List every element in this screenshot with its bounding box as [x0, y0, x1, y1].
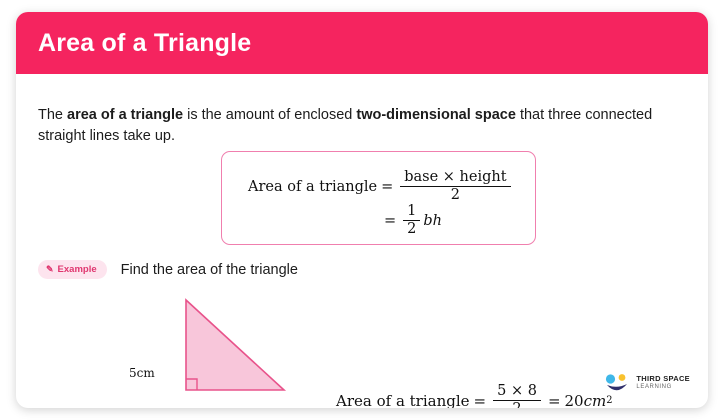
formula-half-fraction: 1 2 — [403, 204, 420, 237]
example-badge: ✎ Example — [38, 260, 107, 279]
formula-half-denominator: 2 — [403, 220, 420, 237]
formula-denominator: 2 — [400, 186, 510, 203]
lesson-card: Area of a Triangle The area of a triangl… — [16, 12, 708, 408]
formula-equals-2: = — [384, 213, 396, 229]
intro-bold-2: two-dimensional space — [356, 107, 516, 123]
answer-unit: cm — [584, 392, 607, 408]
answer-equals: = — [474, 392, 487, 408]
intro-paragraph: The area of a triangle is the amount of … — [38, 105, 674, 147]
formula-equals: = — [381, 179, 393, 195]
answer-fraction: 5 × 8 2 — [493, 384, 541, 408]
brand-logo: THIRD SPACE LEARNING — [604, 372, 690, 394]
example-header-row: ✎ Example Find the area of the triangle — [38, 260, 298, 279]
pencil-icon: ✎ — [46, 265, 54, 274]
triangle-svg — [166, 296, 296, 406]
triangle-figure — [166, 296, 296, 406]
page-title: Area of a Triangle — [38, 29, 251, 58]
worked-answer: Area of a triangle = 5 × 8 2 = 20 cm 2 — [336, 384, 613, 408]
brand-line-1: THIRD SPACE — [636, 375, 690, 384]
intro-bold-1: area of a triangle — [67, 107, 183, 123]
brand-line-2: LEARNING — [636, 384, 690, 391]
formula-half-numerator: 1 — [403, 204, 420, 220]
answer-label: Area of a triangle — [336, 392, 470, 408]
answer-equals-2: = — [548, 392, 561, 408]
card-body: The area of a triangle is the amount of … — [16, 74, 708, 408]
answer-numerator: 5 × 8 — [493, 384, 541, 400]
formula-fraction: base × height 2 — [400, 170, 510, 203]
formula-numerator: base × height — [400, 170, 510, 186]
formula-bh: bh — [423, 213, 442, 229]
brand-logo-text: THIRD SPACE LEARNING — [636, 375, 690, 391]
answer-denominator: 2 — [493, 400, 541, 408]
intro-text-1: The — [38, 107, 67, 123]
formula-line-1: Area of a triangle = base × height 2 — [248, 170, 514, 203]
answer-exponent: 2 — [606, 395, 612, 406]
triangle-shape — [186, 300, 284, 390]
formula-line-2: = 1 2 bh — [380, 204, 442, 237]
formula-content: Area of a triangle = base × height 2 = 1… — [222, 152, 535, 244]
formula-label: Area of a triangle — [248, 179, 377, 195]
third-space-logo-icon — [604, 372, 630, 394]
triangle-height-label: 5cm — [129, 366, 155, 380]
example-prompt: Find the area of the triangle — [121, 262, 298, 278]
formula-box: Area of a triangle = base × height 2 = 1… — [221, 151, 536, 245]
example-badge-label: Example — [58, 264, 97, 275]
intro-text-2: is the amount of enclosed — [183, 107, 356, 123]
answer-result: 20 — [565, 392, 584, 408]
card-header: Area of a Triangle — [16, 12, 708, 74]
page-root: Area of a Triangle The area of a triangl… — [0, 0, 724, 420]
